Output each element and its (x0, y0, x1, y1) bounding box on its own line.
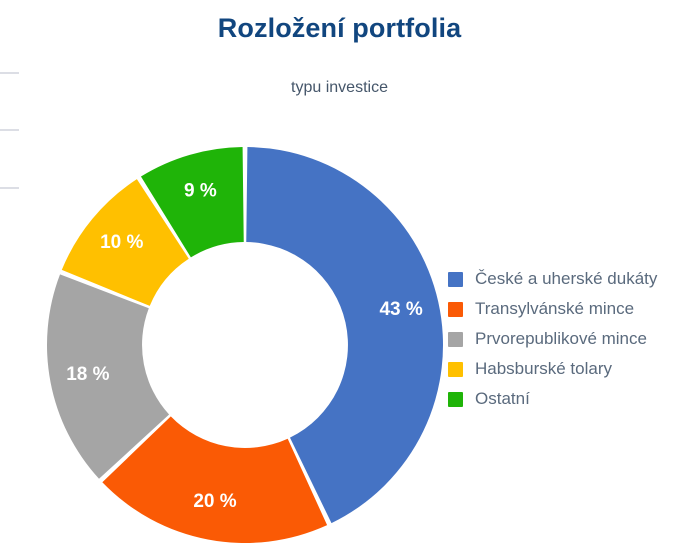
legend-swatch-icon (448, 392, 463, 407)
legend-swatch-icon (448, 302, 463, 317)
legend-item[interactable]: Ostatní (448, 389, 657, 409)
legend-item[interactable]: České a uherské dukáty (448, 269, 657, 289)
cropped-edge-rule-1 (0, 72, 19, 74)
donut-slice-label: 20 % (193, 491, 236, 512)
chart-subtitle: typu investice (0, 79, 679, 97)
donut-slice-label: 10 % (100, 232, 143, 253)
donut-plot-area: 43 %20 %18 %10 %9 % (47, 147, 443, 543)
legend-item[interactable]: Transylvánské mince (448, 299, 657, 319)
legend-item-label: České a uherské dukáty (475, 269, 657, 289)
chart-title: Rozložení portfolia (0, 13, 679, 44)
legend-item-label: Habsburské tolary (475, 359, 612, 379)
legend-swatch-icon (448, 332, 463, 347)
donut-slice-label: 18 % (66, 364, 109, 385)
legend-swatch-icon (448, 362, 463, 377)
donut-slice-label: 43 % (379, 299, 422, 320)
donut-svg: 43 %20 %18 %10 %9 % (47, 147, 443, 543)
chart-legend: České a uherské dukátyTransylvánské minc… (448, 269, 657, 409)
donut-slice-group (47, 147, 443, 543)
legend-item[interactable]: Prvorepublikové mince (448, 329, 657, 349)
legend-item[interactable]: Habsburské tolary (448, 359, 657, 379)
donut-slice-label: 9 % (184, 180, 217, 201)
cropped-edge-rule-3 (0, 187, 19, 189)
legend-item-label: Prvorepublikové mince (475, 329, 647, 349)
legend-item-label: Ostatní (475, 389, 530, 409)
legend-item-label: Transylvánské mince (475, 299, 634, 319)
legend-swatch-icon (448, 272, 463, 287)
cropped-edge-rule-2 (0, 129, 19, 131)
donut-chart-container: Rozložení portfolia typu investice 43 %2… (0, 0, 679, 551)
